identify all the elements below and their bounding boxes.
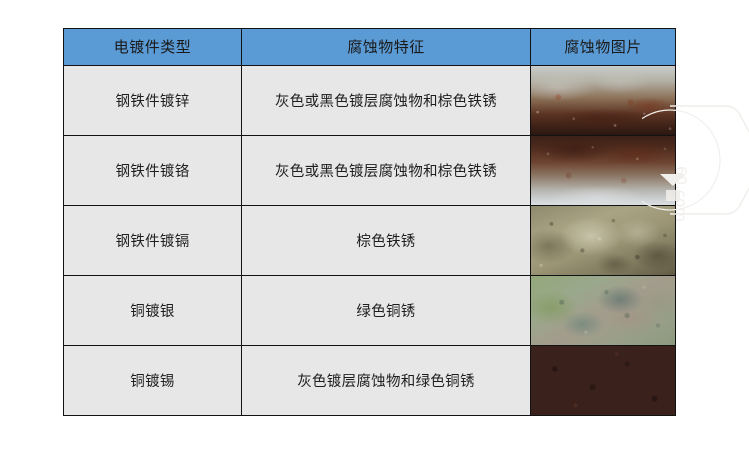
column-header-plating-type: 电镀件类型 [64,29,242,66]
table-row: 钢铁件镀铬 灰色或黑色镀层腐蚀物和棕色铁锈 [64,136,676,206]
table-row: 铜镀锡 灰色镀层腐蚀物和绿色铜锈 [64,346,676,416]
column-header-corrosion-picture: 腐蚀物图片 [531,29,676,66]
silver-plated-copper-corrosion-photo [531,276,675,345]
photo-texture [531,276,675,345]
column-header-corrosion-feature: 腐蚀物特征 [242,29,531,66]
chrome-plated-steel-corrosion-photo [531,136,675,205]
cadmium-plated-steel-corrosion-photo [531,206,675,275]
tin-plated-copper-corrosion-photo [531,346,675,415]
cell-corrosion-picture [531,276,676,346]
cell-corrosion-picture [531,66,676,136]
table-row: 钢铁件镀镉 棕色铁锈 [64,206,676,276]
photo-texture [531,66,675,135]
cell-plating-type: 铜镀锡 [64,346,242,416]
cell-plating-type: 铜镀银 [64,276,242,346]
photo-texture [531,346,675,415]
cell-plating-type: 钢铁件镀铬 [64,136,242,206]
zinc-plated-steel-corrosion-photo [531,66,675,135]
cell-corrosion-feature: 灰色或黑色镀层腐蚀物和棕色铁锈 [242,136,531,206]
cell-plating-type: 钢铁件镀锌 [64,66,242,136]
table-row: 铜镀银 绿色铜锈 [64,276,676,346]
cell-corrosion-feature: 绿色铜锈 [242,276,531,346]
cell-corrosion-picture [531,136,676,206]
cell-corrosion-feature: 棕色铁锈 [242,206,531,276]
cell-corrosion-picture [531,206,676,276]
table-header: 电镀件类型 腐蚀物特征 腐蚀物图片 [64,29,676,66]
cell-plating-type: 钢铁件镀镉 [64,206,242,276]
photo-texture [531,136,675,205]
corrosion-reference-table: 电镀件类型 腐蚀物特征 腐蚀物图片 钢铁件镀锌 灰色或黑色镀层腐蚀物和棕色铁锈 … [63,28,676,416]
header-row: 电镀件类型 腐蚀物特征 腐蚀物图片 [64,29,676,66]
cell-corrosion-feature: 灰色或黑色镀层腐蚀物和棕色铁锈 [242,66,531,136]
table-body: 钢铁件镀锌 灰色或黑色镀层腐蚀物和棕色铁锈 钢铁件镀铬 灰色或黑色镀层腐蚀物和棕… [64,66,676,416]
table-row: 钢铁件镀锌 灰色或黑色镀层腐蚀物和棕色铁锈 [64,66,676,136]
cell-corrosion-picture [531,346,676,416]
photo-texture [531,206,675,275]
cell-corrosion-feature: 灰色镀层腐蚀物和绿色铜锈 [242,346,531,416]
